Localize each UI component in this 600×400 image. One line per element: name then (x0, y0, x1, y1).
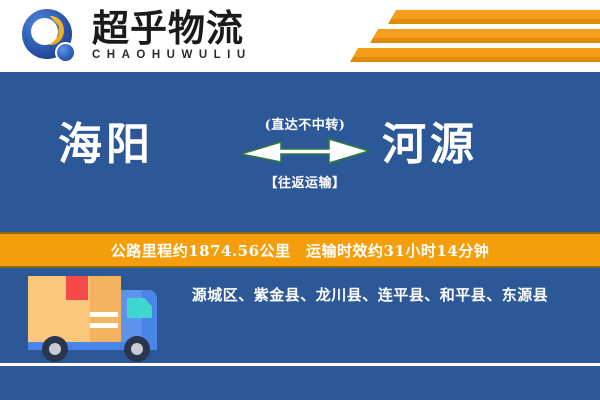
wheel-hub (49, 343, 61, 355)
road-marking-line (0, 363, 600, 366)
distance-duration-bar: 公路里程约1874.56公里 运输时效约31小时14分钟 (0, 232, 600, 268)
circle-crescent-logo-icon (22, 9, 78, 65)
logistics-route-banner: 超乎物流 CHAOHUWULIU 海阳 (直达不中转) 【往返运输】 (0, 0, 600, 400)
round-trip-note: 【往返运输】 (235, 172, 375, 191)
stripe-bottom (350, 57, 600, 62)
coverage-panel: 源城区、紫金县、龙川县、连平县、和平县、东源县 (0, 268, 600, 400)
brand-name-cn: 超乎物流 (92, 8, 252, 48)
stripe-bottom (388, 19, 600, 24)
route-panel: 海阳 (直达不中转) 【往返运输】 河源 (0, 72, 600, 232)
origin-city-label: 海阳 (58, 120, 154, 170)
wheel-hub (131, 343, 143, 355)
truck-cargo-tape (66, 276, 88, 300)
header-bar: 超乎物流 CHAOHUWULIU (0, 0, 600, 72)
brand-name-en: CHAOHUWULIU (92, 49, 252, 61)
decorative-stripe (388, 10, 600, 24)
logo-crescent-white (31, 18, 58, 45)
double-arrow-svg (241, 137, 369, 167)
destination-city-label: 河源 (382, 120, 478, 170)
direct-route-note: (直达不中转) (235, 114, 375, 133)
covered-districts-list: 源城区、紫金县、龙川县、连平县、和平县、东源县 (150, 284, 590, 305)
truck-cargo-stripe-2 (90, 323, 118, 328)
stripe-top (370, 29, 600, 38)
truck-cargo-stripe-1 (90, 312, 118, 317)
stripe-top (388, 10, 600, 19)
truck-cargo-right (90, 276, 121, 342)
truck-wheel-rear (42, 336, 68, 362)
stripe-bottom (370, 38, 600, 43)
distance-duration-text: 公路里程约1874.56公里 运输时效约31小时14分钟 (111, 240, 490, 261)
brand-block: 超乎物流 CHAOHUWULIU (92, 8, 252, 61)
logo-accent-dot (55, 42, 76, 63)
truck-wheel-front (124, 336, 150, 362)
stripe-top (350, 48, 600, 57)
route-middle-group: (直达不中转) 【往返运输】 (235, 114, 375, 191)
decorative-stripe (370, 29, 600, 43)
decorative-stripe (350, 48, 600, 62)
double-headed-arrow-icon (241, 137, 369, 167)
